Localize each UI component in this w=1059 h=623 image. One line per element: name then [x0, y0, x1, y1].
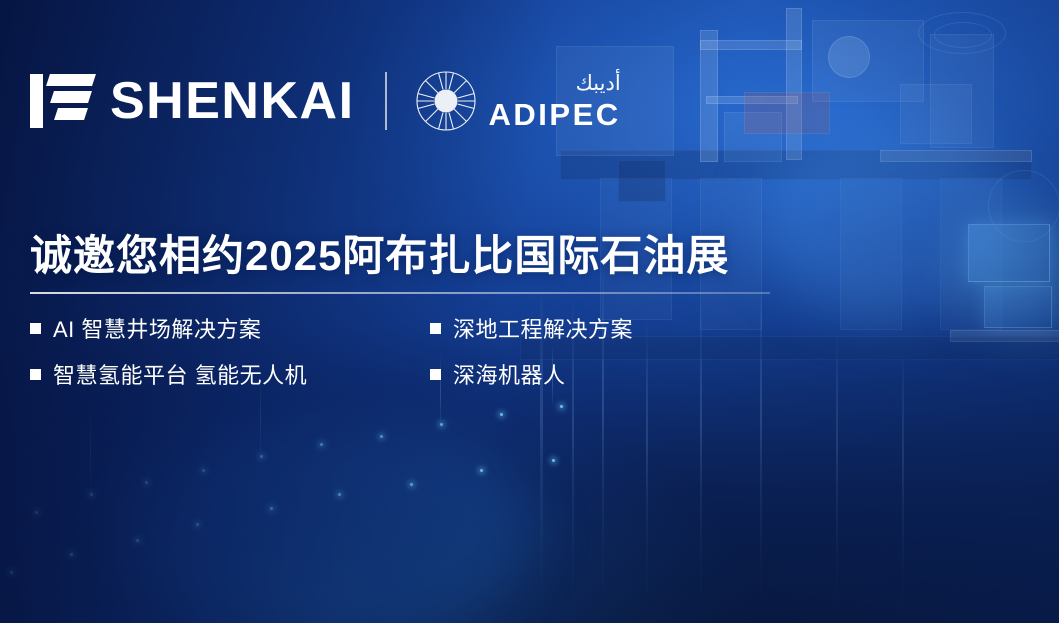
headline: 诚邀您相约2025阿布扎比国际石油展: [30, 222, 729, 283]
square-bullet-icon: [430, 323, 441, 334]
adipec-name-arabic: أديبك: [489, 73, 621, 94]
feature-label: 深海机器人: [453, 358, 566, 390]
feature-label: 智慧氢能平台 氢能无人机: [53, 358, 307, 390]
adipec-lockup: أديبك ADIPEC: [415, 70, 621, 132]
adipec-name-latin: ADIPEC: [489, 99, 621, 130]
square-bullet-icon: [30, 369, 41, 380]
feature-label: AI 智慧井场解决方案: [53, 312, 261, 344]
logo-row: SHENKAI: [30, 62, 621, 140]
shenkai-logo-icon: [30, 70, 94, 132]
feature-item: 深地工程解决方案: [430, 312, 633, 344]
adipec-turbine-icon: [415, 70, 477, 132]
square-bullet-icon: [30, 323, 41, 334]
square-bullet-icon: [430, 369, 441, 380]
promo-banner: SHENKAI: [0, 0, 1059, 623]
logo-divider: [385, 72, 387, 130]
feature-row: AI 智慧井场解决方案 深地工程解决方案: [30, 312, 730, 344]
feature-label: 深地工程解决方案: [453, 312, 633, 344]
feature-item: 智慧氢能平台 氢能无人机: [30, 358, 430, 390]
feature-row: 智慧氢能平台 氢能无人机 深海机器人: [30, 358, 730, 390]
feature-list: AI 智慧井场解决方案 深地工程解决方案 智慧氢能平台 氢能无人机 深海机器人: [30, 312, 730, 404]
brand-name: SHENKAI: [110, 75, 355, 127]
feature-item: AI 智慧井场解决方案: [30, 312, 430, 344]
headline-divider: [30, 292, 770, 294]
feature-item: 深海机器人: [430, 358, 566, 390]
